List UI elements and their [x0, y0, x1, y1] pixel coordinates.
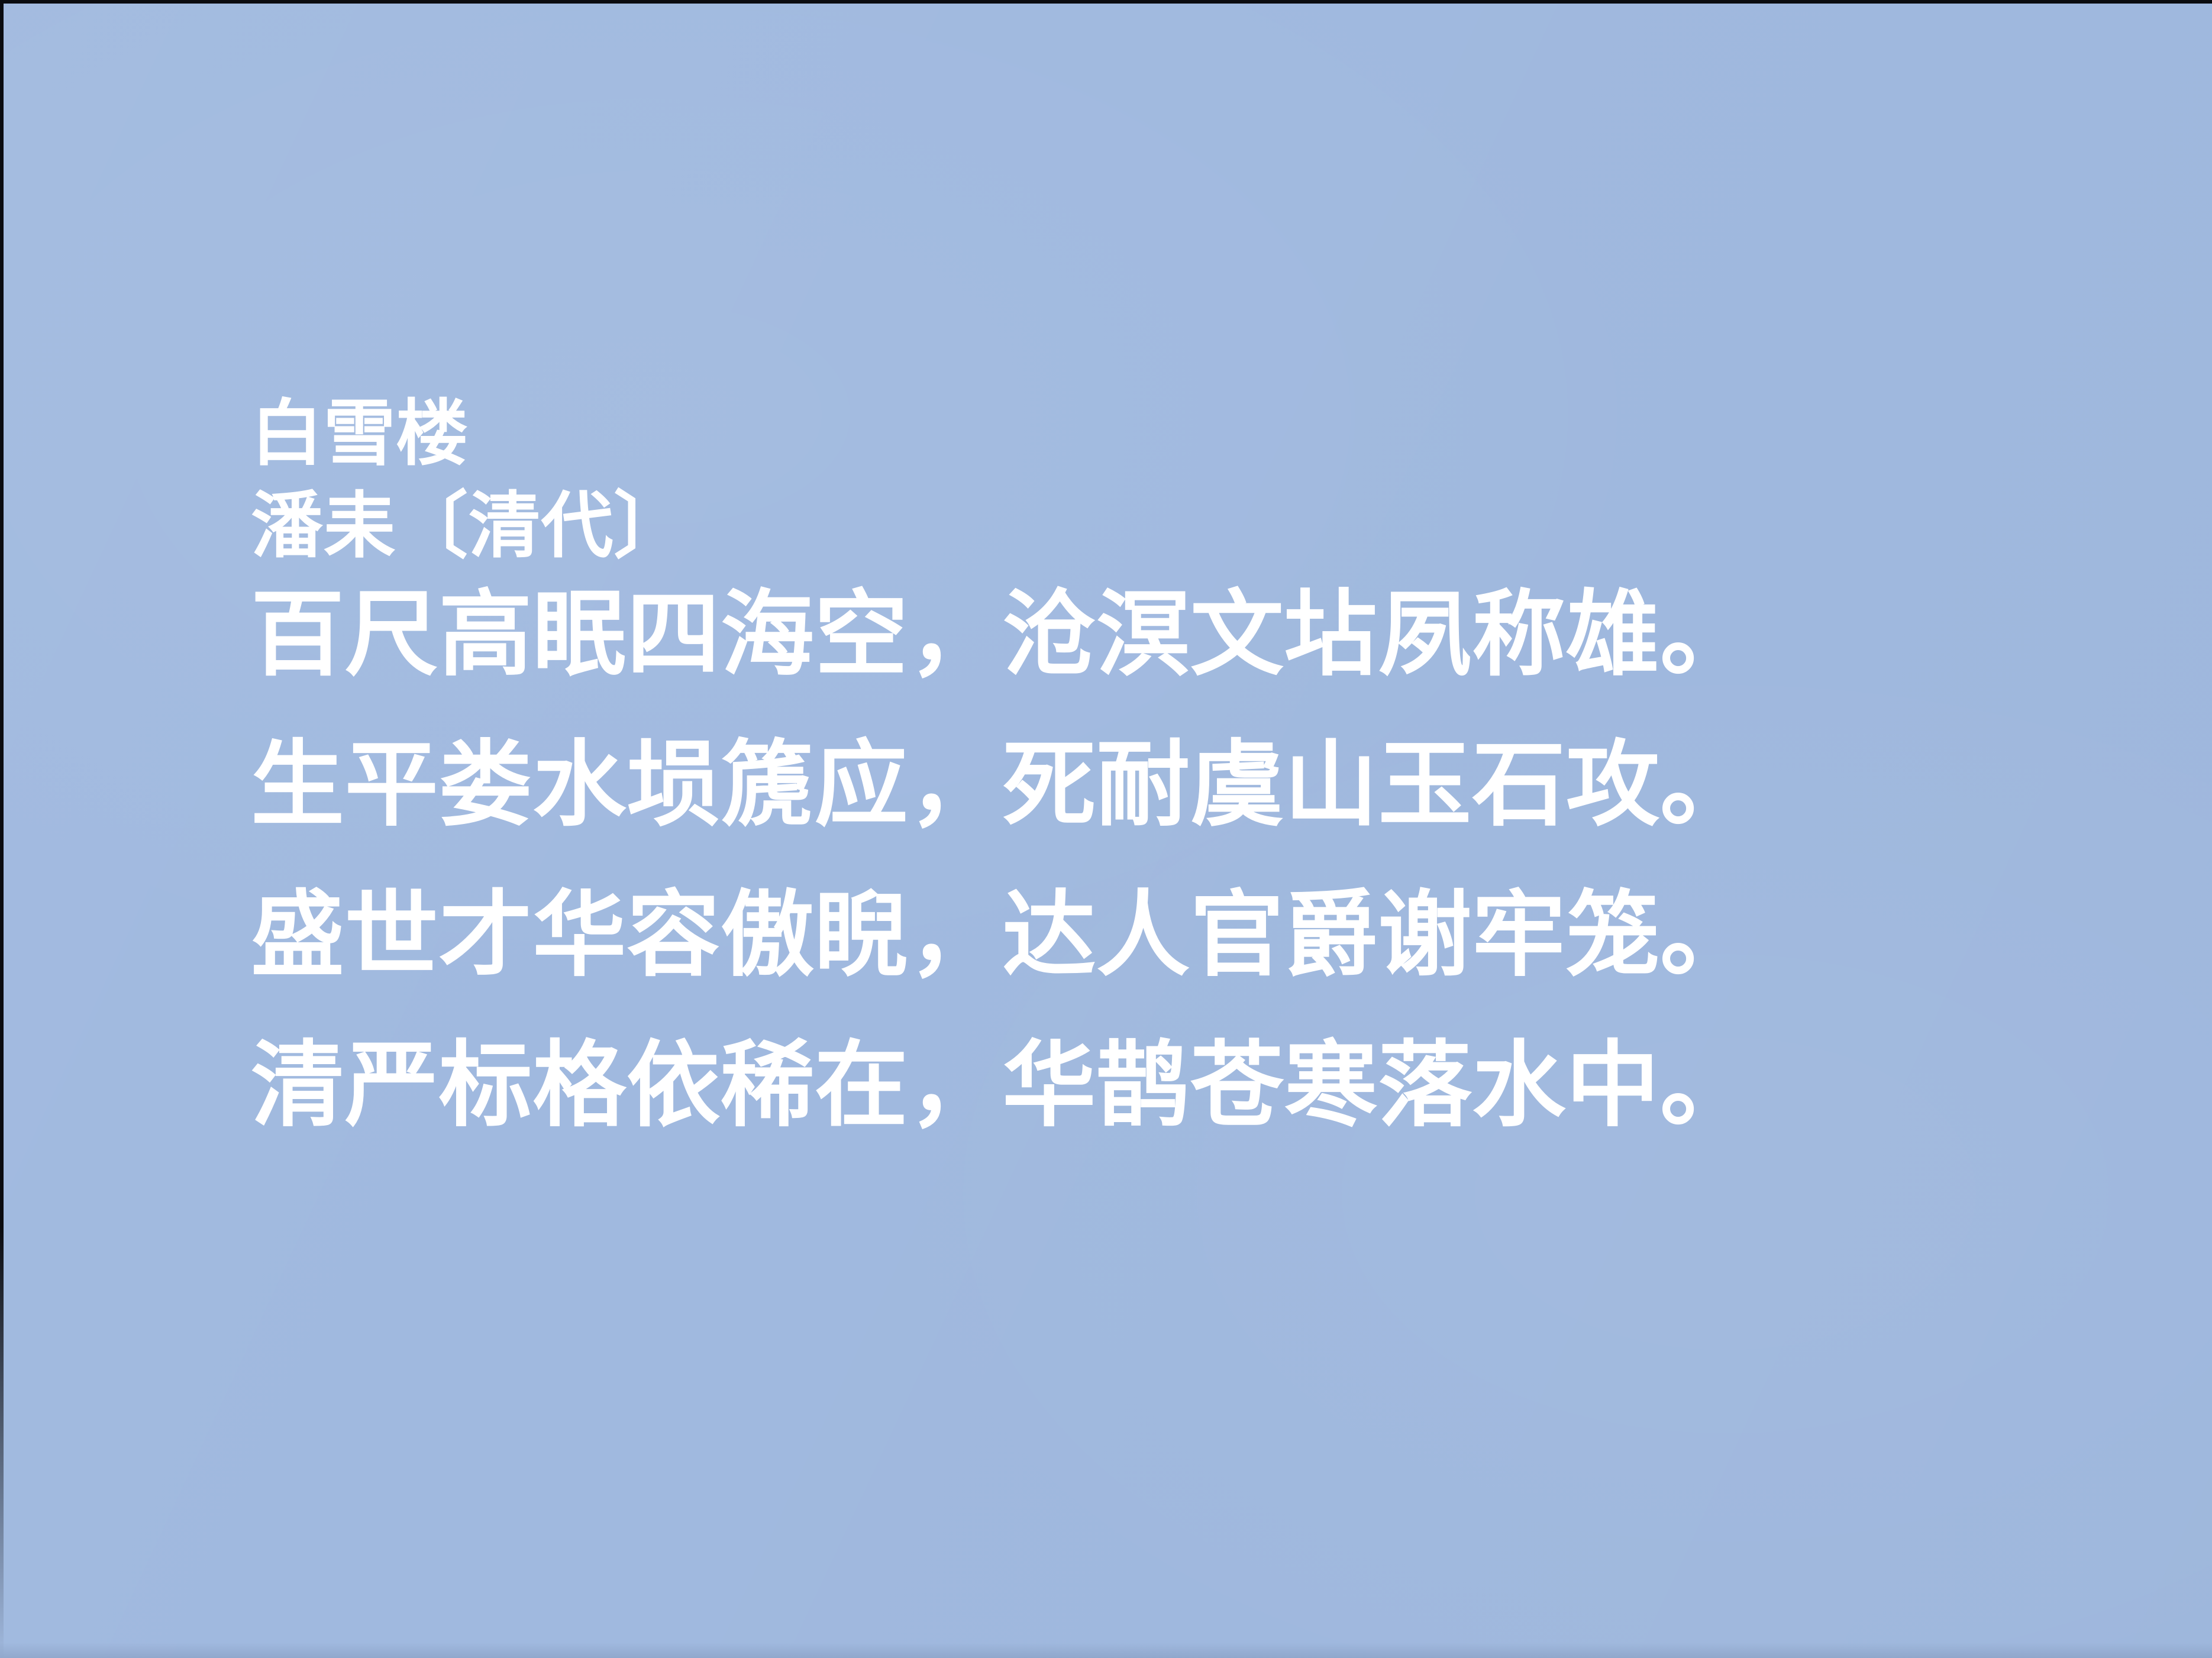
poem-verse-line-4: 清严标格依稀在，华鹊苍寒落水中。 — [251, 1039, 2132, 1132]
poem-title: 白雪楼 — [251, 397, 2132, 470]
poem-slide: 白雪楼 潘耒〔清代〕 百尺高眠四海空，沧溟文坫夙称雄。 生平娄水埙篪应，死耐虞山… — [0, 0, 2212, 1658]
poem-verse-line-2: 生平娄水埙篪应，死耐虞山玉石攻。 — [251, 738, 2132, 832]
poem-verse-line-1: 百尺高眠四海空，沧溟文坫夙称雄。 — [251, 588, 2132, 681]
top-edge-border — [0, 0, 2212, 4]
poem-text-block: 白雪楼 潘耒〔清代〕 百尺高眠四海空，沧溟文坫夙称雄。 生平娄水埙篪应，死耐虞山… — [251, 397, 2132, 1132]
left-edge-border — [0, 0, 4, 1658]
poem-verse-line-3: 盛世才华容傲睨，达人官爵谢牢笼。 — [251, 888, 2132, 982]
bottom-edge-shading — [0, 1643, 2212, 1658]
poem-author-line: 潘耒〔清代〕 — [251, 490, 2132, 562]
